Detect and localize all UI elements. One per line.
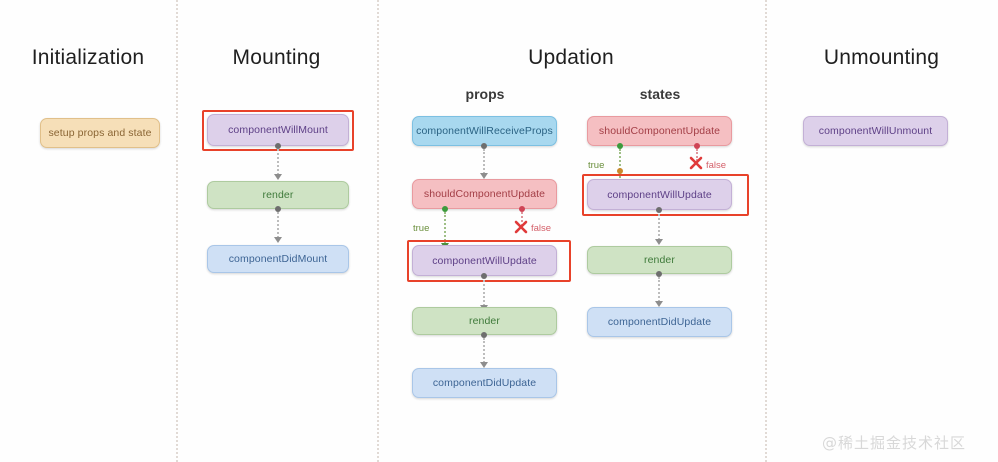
branch-label-states-true: true <box>588 160 604 171</box>
phase-title-unmounting: Unmounting <box>765 46 998 70</box>
node-props-should-component-update[interactable]: shouldComponentUpdate <box>412 179 557 209</box>
connector-props-1 <box>483 149 485 174</box>
phase-title-updation: Updation <box>377 46 765 70</box>
node-setup-props-and-state[interactable]: setup props and state <box>40 118 160 148</box>
node-component-will-unmount[interactable]: componentWillUnmount <box>803 116 948 146</box>
node-states-should-component-update[interactable]: shouldComponentUpdate <box>587 116 732 146</box>
phase-title-initialization: Initialization <box>0 46 176 70</box>
node-mount-component-will-mount[interactable]: componentWillMount <box>207 114 349 146</box>
connector-dot-props-2 <box>481 273 487 279</box>
arrow-head-mount-2 <box>274 237 282 243</box>
phase-title-mounting: Mounting <box>176 46 377 70</box>
node-states-render[interactable]: render <box>587 246 732 274</box>
blocked-x-icon-states <box>689 156 703 170</box>
connector-props-2 <box>483 280 485 306</box>
arrow-head-mount-1 <box>274 174 282 180</box>
lifecycle-diagram: Initialization Mounting Updation Unmount… <box>0 0 998 462</box>
subheading-states: states <box>580 86 740 102</box>
branch-label-states-false: false <box>706 160 726 171</box>
connector-states-3 <box>658 277 660 302</box>
subheading-props: props <box>405 86 565 102</box>
arrow-head-states-2 <box>655 239 663 245</box>
node-props-component-did-update[interactable]: componentDidUpdate <box>412 368 557 398</box>
connector-props-3 <box>483 338 485 363</box>
connector-mount-2 <box>277 212 279 238</box>
branch-label-props-false: false <box>531 223 551 234</box>
node-states-component-will-update[interactable]: componentWillUpdate <box>587 179 732 210</box>
node-props-component-will-receive-props[interactable]: componentWillReceiveProps <box>412 116 557 146</box>
node-props-component-will-update[interactable]: componentWillUpdate <box>412 245 557 276</box>
node-states-component-did-update[interactable]: componentDidUpdate <box>587 307 732 337</box>
connector-mount-1 <box>277 149 279 175</box>
node-props-render[interactable]: render <box>412 307 557 335</box>
watermark: @稀土掘金技术社区 <box>822 432 966 453</box>
blocked-x-icon-props <box>514 220 528 234</box>
branch-label-props-true: true <box>413 223 429 234</box>
connector-dot-states-2 <box>656 207 662 213</box>
node-mount-render[interactable]: render <box>207 181 349 209</box>
node-mount-component-did-mount[interactable]: componentDidMount <box>207 245 349 273</box>
connector-states-2 <box>658 214 660 240</box>
